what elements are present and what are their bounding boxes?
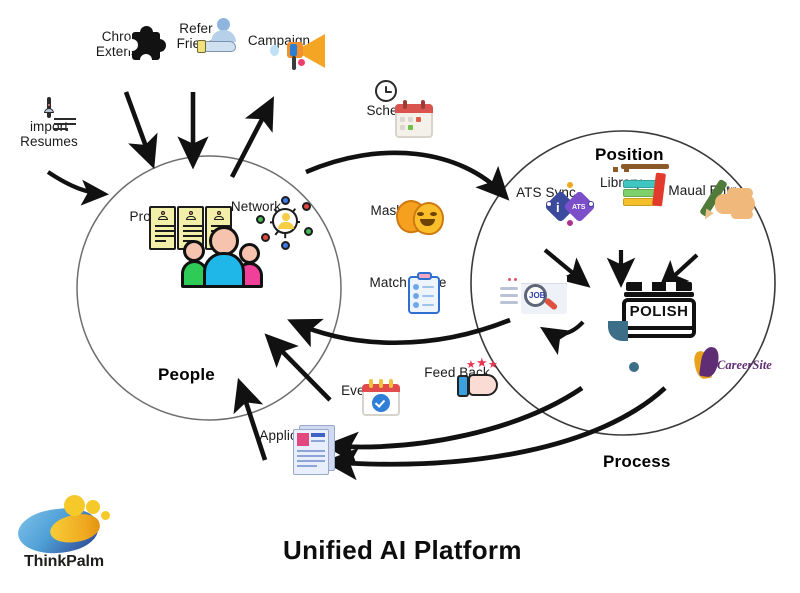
node-refer-friend[interactable]: Refer Friend [166, 18, 226, 51]
resume-document-icon [47, 100, 51, 116]
node-match-score[interactable]: Match Score [356, 272, 460, 290]
zone-label-process: Process [603, 452, 671, 472]
star-icon: ★ [488, 360, 498, 371]
brand-name: ThinkPalm [16, 553, 112, 571]
node-library[interactable]: Library [583, 172, 659, 190]
node-application[interactable]: Application [248, 425, 338, 443]
zone-label-position: Position [595, 145, 664, 165]
arrow-events-to-people [269, 338, 330, 400]
node-manual-entry[interactable]: Maual Entry [656, 180, 754, 198]
arrow-application-to-people [240, 384, 265, 460]
arrow-polish-to-job-search [545, 322, 583, 334]
node-network[interactable]: Network [215, 196, 297, 214]
arrow-chrome-extension [126, 92, 152, 163]
node-ats-sync[interactable]: i ATS ATS Sync [505, 182, 587, 200]
arrow-campaign [232, 102, 271, 177]
polish-jar-text: POLISH [622, 304, 696, 319]
node-label: Network [231, 199, 281, 214]
node-masking[interactable]: Masking [357, 200, 435, 218]
arrow-import-resumes [48, 172, 104, 194]
star-icon: ★ [476, 356, 488, 369]
node-campaign[interactable]: Campaign [238, 30, 320, 48]
node-schedule[interactable]: Schedule [356, 100, 434, 118]
brand-logo: ThinkPalm [16, 495, 112, 561]
arrow-people-to-position [306, 153, 505, 196]
logo-dot-medium [86, 500, 100, 514]
logo-dot-large [64, 495, 85, 516]
node-events[interactable]: Events [327, 380, 397, 398]
node-profile[interactable]: Profile [104, 206, 194, 224]
node-import-resumes[interactable]: import Resumes [10, 100, 88, 149]
page-title: Unified AI Platform [283, 535, 522, 566]
node-chrome-extension[interactable]: Chrome Extension [78, 26, 174, 59]
star-icon: ★ [466, 360, 476, 371]
logo-dot-small [101, 511, 110, 520]
careersite-logo-text: CareerSite [717, 359, 772, 372]
arrow-position-to-people [293, 320, 510, 343]
diagram-canvas: import Resumes Chrome Extension Refer Fr… [0, 0, 800, 593]
zone-label-people: People [158, 365, 215, 385]
node-feed-back[interactable]: ★ ★ ★ Feed Back [412, 362, 502, 380]
